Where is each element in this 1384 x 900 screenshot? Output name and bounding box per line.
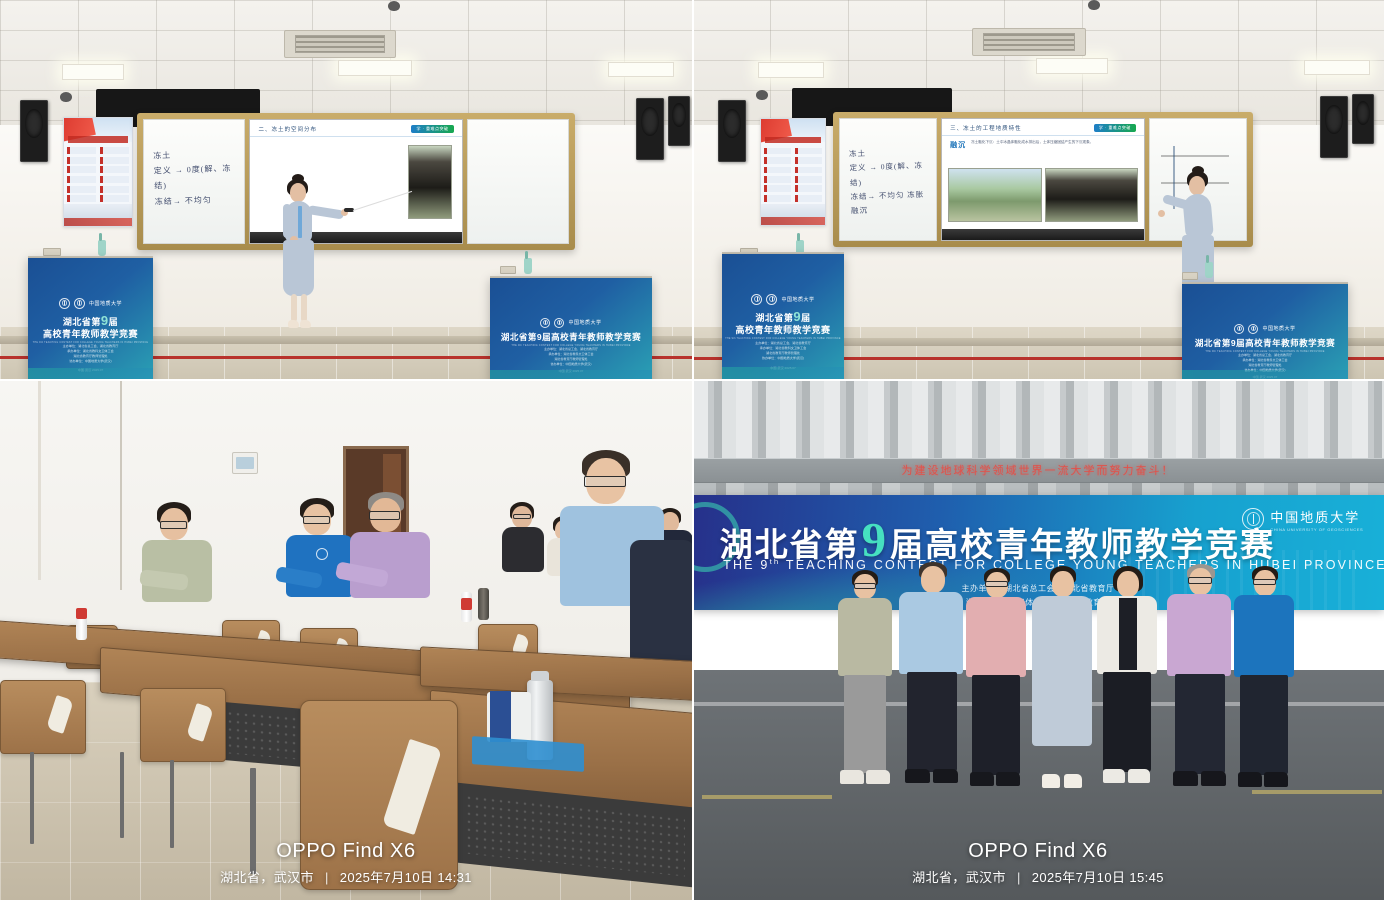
whiteboard-panel-left[interactable]: 冻土 定义 → 0度(解、冻结) 冻结→ 不均匀 [143, 119, 245, 244]
banner-university-cn: 中国地质大学 [1270, 510, 1360, 525]
teacher-hand-writing [1158, 210, 1165, 217]
podium-title: 湖北省第9届高校青年教师教学竞赛 [1195, 338, 1335, 349]
building-columns [692, 380, 1384, 470]
person-shoe-left [970, 772, 994, 786]
podium-organizers: 主办单位：湖北省总工会、湖北省教育厅 承办单位：湖北省教科文卫体工会 湖北省教育… [544, 347, 598, 374]
slide-header: 二、冻土的空间分布 学 · 重难点突破 [250, 120, 461, 137]
person-glasses-icon [854, 583, 876, 589]
speaker-right-2 [1352, 94, 1374, 144]
slide-title: 二、冻土的空间分布 [258, 125, 317, 133]
person-shoe-right [933, 769, 958, 783]
person-shoe-right [1128, 769, 1150, 783]
ceiling-lamp-center [338, 60, 412, 76]
person-torso [1234, 595, 1294, 677]
wall-seam [38, 380, 41, 580]
poster-cell [100, 166, 129, 173]
slide-image-thaw-settlement [1045, 168, 1138, 222]
banner-en-pre: THE 9 [723, 558, 769, 572]
led-banner-strip: 为建设地球科学领域世界一流大学而努力奋斗！ [692, 458, 1384, 483]
led-banner-text: 为建设地球科学领域世界一流大学而努力奋斗！ [902, 462, 1175, 478]
person-shoe-left [1238, 772, 1262, 787]
person-glasses-icon [985, 581, 1008, 587]
speaker-left [20, 100, 48, 162]
attendee-glasses-icon [303, 516, 330, 524]
podium-top-surface [28, 256, 153, 258]
chair-leg [170, 760, 174, 848]
person-torso [1167, 594, 1231, 676]
podium-title-line1: 湖北省第 [755, 313, 793, 323]
tissue-box [43, 248, 61, 256]
chair-back-left-1[interactable] [0, 680, 86, 754]
podium-organizers: 主办单位：湖北省总工会、湖北省教育厅 承办单位：湖北省教科文卫体工会 湖北省教育… [63, 344, 119, 373]
tissue-box-right [500, 266, 516, 274]
poster-cell [67, 147, 96, 154]
organizer-line: 协办单位：中国地质大学(武汉) [1238, 368, 1292, 373]
group-person-2 [897, 562, 967, 797]
podium-footer: 中国·武汉 2025.07 [544, 369, 598, 374]
slide-image-rural-house [948, 168, 1041, 222]
podium-footer: 中国·武汉 2025.07 [63, 368, 119, 373]
whiteboard-notes: 冻土 定义 → 0度(解、冻结) 冻结→ 不均匀 [153, 146, 237, 210]
group-person-5 [1095, 566, 1161, 801]
poster-cell [100, 176, 129, 183]
organizer-line: 协办单位：中国地质大学(武汉) [755, 356, 811, 361]
chair-back-foreground[interactable] [300, 700, 458, 890]
note-line-2: 定义 → 0度(解、冻结) [849, 158, 929, 189]
person-legs [1240, 675, 1288, 775]
attendee-torso [502, 527, 544, 572]
university-seal-icon [1248, 324, 1258, 334]
attendee-logo-icon [316, 548, 328, 560]
podium-title-line2: 届 [801, 313, 811, 323]
person-shoe-left [1173, 771, 1198, 786]
university-seal-icon [554, 318, 564, 328]
slide-paragraph: 冻土融化下沉：土中冰晶体融化成水排出后，土体压缩固结产生的下沉现象。 [971, 140, 1093, 145]
university-seal-icon [74, 298, 85, 309]
teacher-lanyard [298, 206, 302, 238]
poster-cell [795, 148, 822, 155]
poster-cell [100, 195, 129, 202]
speaker-left [718, 100, 746, 162]
poster-cell [795, 167, 822, 174]
banner-en-ordinal: th [770, 557, 781, 566]
speaker-right-2 [668, 96, 690, 146]
whiteboard-panel-left[interactable]: 冻土 定义 → 0度(解、冻结) 冻结→ 不均匀 冻胀 融沉 [839, 118, 937, 241]
person-legs [1175, 674, 1225, 774]
camera-dome-icon-2 [60, 92, 72, 102]
tissue-box-right [1182, 272, 1198, 280]
poster-cell [764, 148, 791, 155]
podium-right: 中国地质大学 湖北省第9届高校青年教师教学竞赛 THE 9th TEACHING… [1182, 282, 1348, 380]
photo-bottom-left[interactable]: OPPO Find X6 湖北省，武汉市 | 2025年7月10日 14:31 [0, 380, 692, 900]
podium-university-name: 中国地质大学 [1262, 325, 1295, 332]
ac-vent [284, 30, 396, 58]
chair-back-left-2[interactable] [140, 688, 226, 762]
teacher-leg-right [301, 294, 307, 322]
podium-english-title: THE 9th TEACHING CONTEST FOR COLLEGE YOU… [725, 338, 841, 340]
whiteboard-panel-right[interactable] [467, 119, 569, 244]
podium-edition-number: 9 [101, 313, 109, 328]
attendee-3 [350, 492, 438, 612]
poster-cell [764, 176, 791, 183]
poster-cell [67, 157, 96, 164]
podium-title-line1: 湖北省第 [63, 317, 101, 327]
person-torso [966, 597, 1026, 677]
poster-cell [67, 195, 96, 202]
person-head [1117, 571, 1139, 597]
whiteboard[interactable]: 冻土 定义 → 0度(解、冻结) 冻结→ 不均匀 二、冻土的空间分布 学 · 重… [137, 113, 575, 250]
person-shoe-left [905, 769, 930, 783]
bottle-label [76, 608, 87, 619]
ceiling-lamp-right [608, 62, 674, 77]
slide-header: 三、冻土的工程地质特性 学 · 重难点突破 [942, 119, 1144, 136]
person-glasses-icon [1253, 579, 1276, 585]
contest-seal-icon [751, 294, 762, 305]
person-skirt [1103, 672, 1151, 772]
attendee-back-1 [500, 502, 546, 572]
university-seal-icon [1242, 508, 1264, 530]
desk-leg [250, 768, 256, 874]
poster-cell [764, 195, 791, 202]
banner-edition-number: 9 [862, 520, 888, 559]
camera-dome-icon [1088, 0, 1100, 10]
person-shoe-right [996, 772, 1020, 786]
person-legs [844, 675, 886, 773]
podium-right: 中国地质大学 湖北省第9届高校青年教师教学竞赛 THE 9th TEACHING… [490, 276, 652, 380]
podium-footer: 中国·武汉 2025.07 [755, 366, 811, 371]
person-torso [838, 598, 892, 676]
person-shoe-left [1042, 774, 1060, 788]
group-person-3 [964, 568, 1030, 798]
note-line-3: 冻结→ 不均匀 [155, 191, 238, 209]
display-bezel [942, 229, 1144, 240]
spray-bottle [98, 240, 106, 256]
attendee-glasses-icon [513, 514, 531, 519]
poster-footer [64, 204, 132, 226]
contest-seal-icon [1234, 324, 1244, 334]
poster-heading [765, 137, 821, 143]
group-person-6 [1165, 564, 1235, 802]
whiteboard-notes: 冻土 定义 → 0度(解、冻结) 冻结→ 不均匀 冻胀 融沉 [848, 144, 929, 218]
person-head [1052, 571, 1074, 597]
photo-top-left[interactable]: 冻土 定义 → 0度(解、冻结) 冻结→ 不均匀 二、冻土的空间分布 学 · 重… [0, 0, 692, 380]
spray-bottle-right [1205, 262, 1213, 278]
slide-title: 三、冻土的工程地质特性 [950, 124, 1022, 132]
speaker-right [1320, 96, 1348, 158]
poster-rows [67, 147, 128, 202]
podium-logo-row: 中国地质大学 [59, 298, 122, 309]
poster-cell [67, 166, 96, 173]
attendee-1 [140, 502, 220, 612]
poster-cell [764, 185, 791, 192]
organizer-line: 协办单位：中国地质大学(武汉) [63, 359, 119, 364]
note-line-3: 冻结→ 不均匀 冻胀 [850, 187, 929, 204]
parking-line [702, 795, 832, 799]
podium-logo-row: 中国地质大学 [1234, 324, 1295, 334]
attendee-glasses-icon [369, 511, 400, 520]
wall-poster [63, 117, 133, 227]
slide-badge: 学 · 重难点突破 [1094, 124, 1136, 132]
poster-cell [100, 186, 129, 193]
teacher-head [1189, 176, 1205, 195]
person-torso [899, 592, 963, 674]
podium-organizers: 主办单位：湖北省总工会、湖北省教育厅 承办单位：湖北省教科文卫体工会 湖北省教育… [755, 341, 811, 371]
person-legs [972, 675, 1020, 775]
podium-title-line3: 高校青年教师教学竞赛 [43, 329, 138, 340]
teacher-leg-left [291, 294, 297, 322]
note-line-4: 融沉 [850, 201, 929, 218]
chair-leg [30, 752, 34, 844]
poster-cell [795, 176, 822, 183]
group-person-1 [834, 570, 896, 795]
person-shoe-right [866, 770, 890, 784]
podium-left: 中国地质大学 湖北省第9届 高校青年教师教学竞赛 THE 9th TEACHIN… [722, 252, 844, 380]
chair-leg [120, 752, 124, 838]
person-inner-top [1119, 598, 1137, 670]
person-shoe-left [840, 770, 864, 784]
note-line-2: 定义 → 0度(解、冻结) [154, 161, 237, 194]
ceiling-lamp-left [758, 62, 824, 78]
person-shoe-right [1064, 774, 1082, 788]
poster-cell [795, 185, 822, 192]
university-seal-icon [766, 294, 777, 305]
person-shoe-right [1201, 771, 1226, 786]
person-head [921, 566, 945, 593]
podium-left: 中国地质大学 湖北省第9届 高校青年教师教学竞赛 THE 9th TEACHIN… [28, 256, 153, 380]
podium-edition-number: 9 [793, 309, 801, 324]
poster-cell [795, 157, 822, 164]
poster-cell [764, 157, 791, 164]
tumbler-dark [478, 588, 489, 620]
speaker-right [636, 98, 664, 160]
podium-title: 湖北省第9届 高校青年教师教学竞赛 [43, 313, 138, 341]
poster-heading [68, 136, 128, 142]
person-dress [1032, 596, 1092, 746]
photo-collage: 冻土 定义 → 0度(解、冻结) 冻结→ 不均匀 二、冻土的空间分布 学 · 重… [0, 0, 1384, 900]
slide-body: 融沉 冻土融化下沉：土中冰晶体融化成水排出后，土体压缩固结产生的下沉现象。 [942, 136, 1144, 240]
bottle-label [461, 598, 472, 610]
banner-university-en: CHINA UNIVERSITY OF GEOSCIENCES [1270, 527, 1363, 532]
group-person-7 [1232, 566, 1298, 802]
podium-title: 湖北省第9届 高校青年教师教学竞赛 [735, 309, 830, 337]
thermostat-panel [232, 452, 258, 474]
podium-top-surface [722, 252, 844, 254]
podium-logo-row: 中国地质大学 [540, 318, 601, 328]
poster-cell [764, 167, 791, 174]
ceiling-lamp-right [1304, 60, 1370, 75]
poster-cell [100, 147, 129, 154]
poster-cell [100, 157, 129, 164]
teacher-skirt [283, 240, 314, 296]
contest-seal-icon [59, 298, 70, 309]
wall-cable [120, 380, 122, 590]
podium-top-surface [1182, 282, 1348, 284]
person-shoe-left [1103, 769, 1125, 783]
podium-title-line2: 届 [109, 317, 119, 327]
slide-image-soil-profile [408, 145, 452, 219]
wall-poster [760, 118, 826, 226]
ac-vent [972, 28, 1086, 56]
classroom-scene: 冻土 定义 → 0度(解、冻结) 冻结→ 不均匀 二、冻土的空间分布 学 · 重… [0, 0, 692, 380]
podium-title-line3: 高校青年教师教学竞赛 [735, 325, 830, 336]
slide-badge: 学 · 重难点突破 [411, 125, 453, 133]
poster-cell [67, 176, 96, 183]
organizer-line: 协办单位：中国地质大学(武汉) [544, 362, 598, 367]
banner-university-logo: 中国地质大学 CHINA UNIVERSITY OF GEOSCIENCES [1242, 507, 1363, 532]
podium-university-name: 中国地质大学 [781, 296, 814, 303]
classroom-scene-2: 冻土 定义 → 0度(解、冻结) 冻结→ 不均匀 冻胀 融沉 三、冻土的工程地质… [692, 0, 1384, 380]
podium-organizers: 主办单位：湖北省总工会、湖北省教育厅 承办单位：湖北省教科文卫体工会 湖北省教育… [1238, 353, 1292, 380]
poster-footer [761, 204, 825, 225]
podium-top-surface [490, 276, 652, 278]
panel-divider-horizontal [0, 379, 1384, 381]
podium-logo-row: 中国地质大学 [751, 294, 814, 305]
poster-cell [795, 195, 822, 202]
teacher-head [290, 183, 306, 202]
attendee-glasses-icon [160, 521, 187, 529]
slide-subtitle: 融沉 [950, 140, 966, 150]
poster-rows [764, 148, 822, 202]
teacher-presenting [272, 176, 332, 336]
attendee-glasses-icon [584, 476, 626, 487]
teacher-shoe-right [300, 320, 311, 328]
camera-dome-icon [388, 1, 400, 11]
spray-bottle-right [524, 258, 532, 274]
tote-bag [487, 692, 531, 742]
podium-university-name: 中国地质大学 [89, 300, 122, 307]
banner-university-text: 中国地质大学 CHINA UNIVERSITY OF GEOSCIENCES [1270, 507, 1363, 532]
person-glasses-icon [1188, 577, 1212, 584]
group-person-4 [1030, 566, 1096, 801]
contest-seal-icon [540, 318, 550, 328]
interactive-display[interactable]: 三、冻土的工程地质特性 学 · 重难点突破 融沉 冻土融化下沉：土中冰晶体融化成… [941, 118, 1145, 241]
poster-cell [67, 186, 96, 193]
ceiling-lamp-center [1036, 58, 1108, 74]
person-shoe-right [1264, 772, 1288, 787]
photo-bottom-right[interactable]: 为建设地球科学领域世界一流大学而努力奋斗！ 湖北省第9届高校青年教师教学竞赛 T… [692, 380, 1384, 900]
teacher-arm-left [283, 204, 291, 238]
ceiling-lamp-left [62, 64, 124, 80]
podium-title: 湖北省第9届高校青年教师教学竞赛 [501, 332, 641, 343]
camera-dome-icon-2 [756, 90, 768, 100]
person-legs [907, 672, 957, 772]
panel-divider-vertical [692, 0, 694, 900]
photo-top-right[interactable]: 冻土 定义 → 0度(解、冻结) 冻结→ 不均匀 冻胀 融沉 三、冻土的工程地质… [692, 0, 1384, 380]
podium-university-name: 中国地质大学 [568, 319, 601, 326]
teacher-shoe-left [288, 320, 299, 328]
